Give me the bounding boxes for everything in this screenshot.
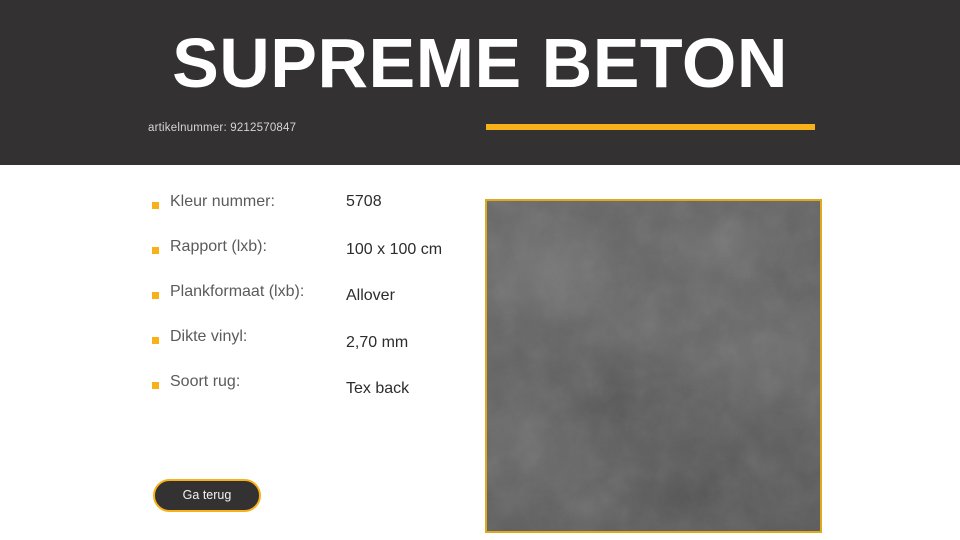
bullet-square-icon bbox=[152, 337, 159, 344]
spec-label: Rapport (lxb): bbox=[170, 235, 267, 259]
spec-value: 100 x 100 cm bbox=[346, 238, 442, 262]
spec-label: Dikte vinyl: bbox=[170, 325, 247, 349]
bullet-square-icon bbox=[152, 247, 159, 254]
concrete-texture-overlay bbox=[487, 201, 820, 531]
spec-row: Soort rug: Tex back bbox=[148, 370, 468, 415]
specification-list: Kleur nummer: 5708 Rapport (lxb): 100 x … bbox=[148, 190, 468, 415]
product-detail-page: SUPREME BETON artikelnummer: 9212570847 … bbox=[0, 0, 960, 540]
spec-value: 5708 bbox=[346, 190, 382, 214]
spec-row: Plankformaat (lxb): Allover bbox=[148, 280, 468, 325]
spec-label: Soort rug: bbox=[170, 370, 240, 394]
page-header: SUPREME BETON artikelnummer: 9212570847 bbox=[0, 0, 960, 165]
bullet-square-icon bbox=[152, 202, 159, 209]
spec-label: Plankformaat (lxb): bbox=[170, 280, 304, 304]
spec-label: Kleur nummer: bbox=[170, 190, 275, 214]
back-button[interactable]: Ga terug bbox=[153, 479, 261, 512]
page-title: SUPREME BETON bbox=[0, 20, 960, 106]
spec-value: Allover bbox=[346, 284, 395, 308]
article-number: artikelnummer: 9212570847 bbox=[148, 121, 296, 136]
header-accent-bar bbox=[486, 124, 815, 130]
spec-value: 2,70 mm bbox=[346, 331, 408, 355]
bullet-square-icon bbox=[152, 292, 159, 299]
spec-value: Tex back bbox=[346, 377, 409, 401]
spec-row: Rapport (lxb): 100 x 100 cm bbox=[148, 235, 468, 280]
product-sample-image bbox=[485, 199, 822, 533]
spec-row: Kleur nummer: 5708 bbox=[148, 190, 468, 235]
bullet-square-icon bbox=[152, 382, 159, 389]
spec-row: Dikte vinyl: 2,70 mm bbox=[148, 325, 468, 370]
